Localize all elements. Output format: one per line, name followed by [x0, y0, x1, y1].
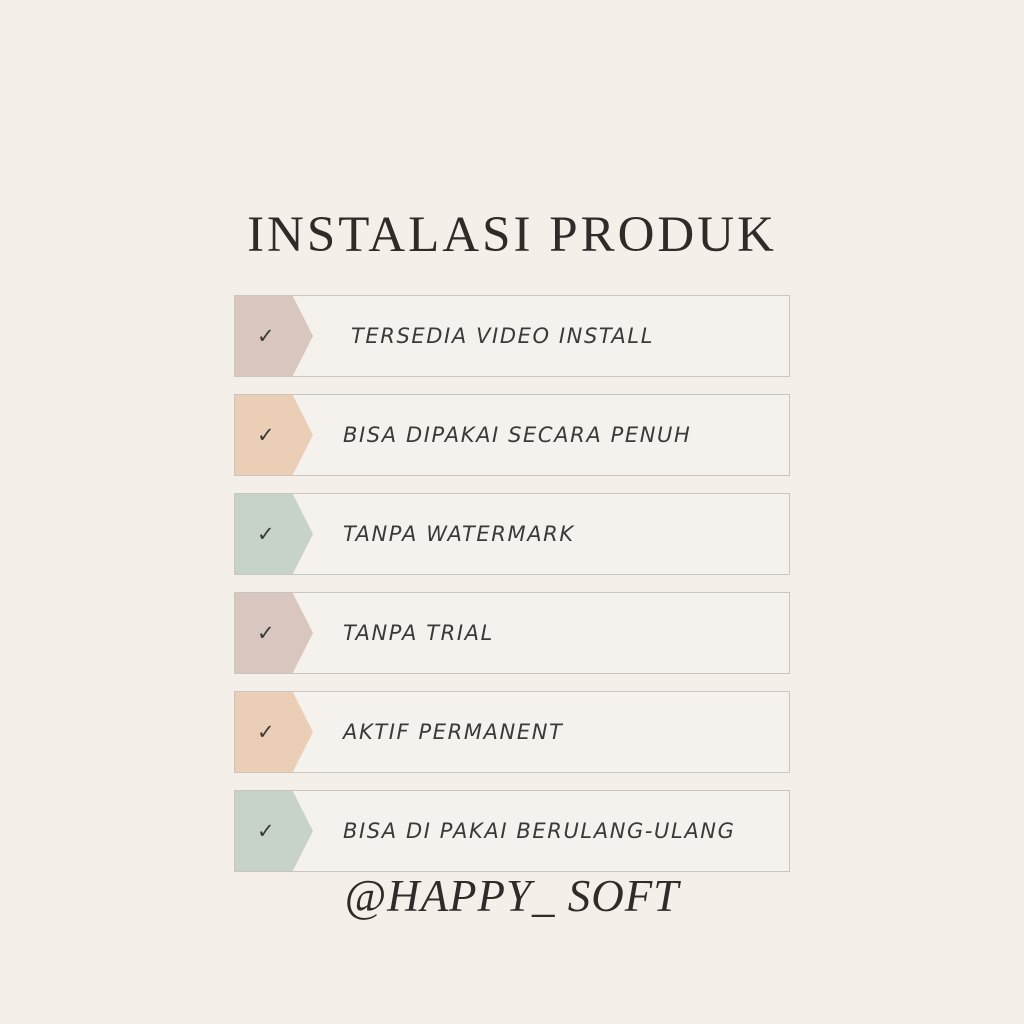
- list-item-label: BISA DIPAKAI SECARA PENUH: [343, 395, 691, 475]
- checkmark-badge: ✓: [235, 791, 313, 871]
- checkmark-badge: ✓: [235, 296, 313, 376]
- brand-handle: @HAPPY_ SOFT: [0, 874, 1024, 919]
- list-item: ✓ BISA DIPAKAI SECARA PENUH: [234, 394, 790, 476]
- checkmark-badge: ✓: [235, 494, 313, 574]
- feature-list: ✓ TERSEDIA VIDEO INSTALL ✓ BISA DIPAKAI …: [234, 295, 790, 889]
- check-icon: ✓: [257, 623, 275, 644]
- list-item: ✓ TANPA WATERMARK: [234, 493, 790, 575]
- check-icon: ✓: [257, 821, 275, 842]
- checkmark-badge: ✓: [235, 395, 313, 475]
- list-item: ✓ TANPA TRIAL: [234, 592, 790, 674]
- checkmark-badge: ✓: [235, 593, 313, 673]
- list-item: ✓ TERSEDIA VIDEO INSTALL: [234, 295, 790, 377]
- list-item-label: TANPA WATERMARK: [343, 494, 575, 574]
- check-icon: ✓: [257, 326, 275, 347]
- promo-poster: INSTALASI PRODUK ✓ TERSEDIA VIDEO INSTAL…: [0, 0, 1024, 1024]
- checkmark-badge: ✓: [235, 692, 313, 772]
- check-icon: ✓: [257, 524, 275, 545]
- list-item-label: TERSEDIA VIDEO INSTALL: [351, 296, 654, 376]
- list-item-label: AKTIF PERMANENT: [343, 692, 563, 772]
- list-item: ✓ BISA DI PAKAI BERULANG-ULANG: [234, 790, 790, 872]
- check-icon: ✓: [257, 425, 275, 446]
- page-title: INSTALASI PRODUK: [0, 210, 1024, 261]
- list-item-label: TANPA TRIAL: [343, 593, 494, 673]
- list-item-label: BISA DI PAKAI BERULANG-ULANG: [343, 791, 735, 871]
- check-icon: ✓: [257, 722, 275, 743]
- list-item: ✓ AKTIF PERMANENT: [234, 691, 790, 773]
